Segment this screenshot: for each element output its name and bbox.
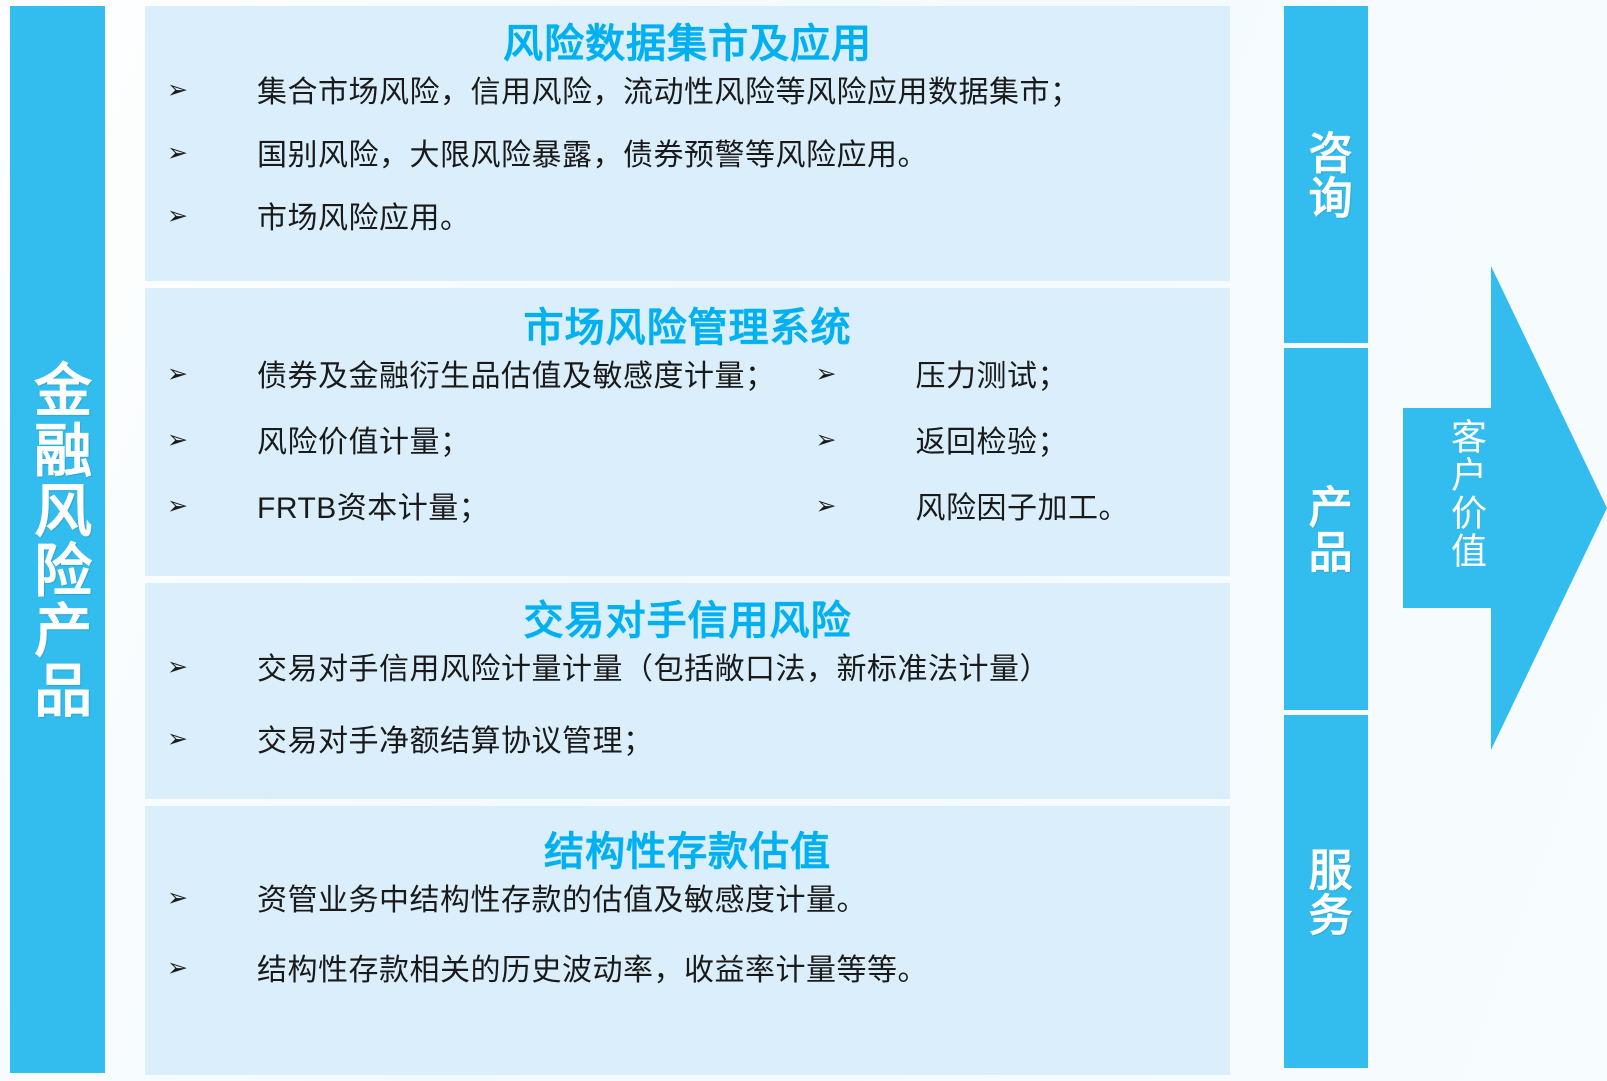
list-item-label: 返回检验； [840, 426, 1231, 460]
arrow-bullet-icon: ➢ [167, 884, 191, 913]
arrow-bullet-icon: ➢ [816, 492, 840, 521]
list-item: ➢ 交易对手信用风险计量计量（包括敞口法，新标准法计量） [145, 653, 1230, 725]
bullet-list: ➢ 集合市场风险，信用风险，流动性风险等风险应用数据集市； ➢ 国别风险，大限风… [145, 68, 1230, 265]
content-stack: 风险数据集市及应用 ➢ 集合市场风险，信用风险，流动性风险等风险应用数据集市； … [145, 6, 1230, 1075]
list-item-label: 交易对手信用风险计量计量（包括敞口法，新标准法计量） [191, 653, 1230, 687]
arrow-bullet-icon: ➢ [167, 653, 191, 682]
list-item: ➢ 资管业务中结构性存款的估值及敏感度计量。 [145, 884, 1230, 954]
stage-item-consulting: 咨询 [1284, 6, 1368, 343]
stage-item-label: 服务 [1301, 847, 1350, 937]
arrow-bullet-icon: ➢ [816, 360, 840, 389]
list-item: ➢ 市场风险应用。 [145, 202, 1230, 265]
list-item-label: 债券及金融衍生品估值及敏感度计量； [191, 360, 776, 394]
customer-value-arrow-label: 客户价值 [1421, 418, 1487, 570]
list-item: ➢ 集合市场风险，信用风险，流动性风险等风险应用数据集市； [145, 76, 1230, 139]
list-item: ➢ 压力测试； [776, 360, 1231, 426]
bullet-column-right: ➢ 压力测试； ➢ 返回检验； ➢ 风险因子加工。 [776, 360, 1231, 558]
arrow-bullet-icon: ➢ [816, 426, 840, 455]
list-item-label: 集合市场风险，信用风险，流动性风险等风险应用数据集市； [191, 76, 1230, 110]
bullet-list: ➢ 交易对手信用风险计量计量（包括敞口法，新标准法计量） ➢ 交易对手净额结算协… [145, 645, 1230, 797]
list-item: ➢ 交易对手净额结算协议管理； [145, 725, 1230, 797]
stage-item-product: 产品 [1284, 348, 1368, 710]
list-item: ➢ 风险价值计量； [145, 426, 776, 492]
arrow-bullet-icon: ➢ [167, 139, 191, 168]
list-item-label: FRTB资本计量； [191, 492, 776, 526]
stage-item-label: 咨询 [1301, 130, 1350, 220]
section-title: 结构性存款估值 [145, 806, 1230, 876]
customer-value-arrow: 客户价值 [1381, 266, 1607, 750]
list-item: ➢ 国别风险，大限风险暴露，债券预警等风险应用。 [145, 139, 1230, 202]
list-item: ➢ 债券及金融衍生品估值及敏感度计量； [145, 360, 776, 426]
section-market-risk-system: 市场风险管理系统 ➢ 债券及金融衍生品估值及敏感度计量； ➢ 风险价值计量； ➢… [145, 288, 1230, 576]
left-title-bar: 金融风险产品 [10, 6, 105, 1073]
section-title: 风险数据集市及应用 [145, 6, 1230, 68]
stage-item-service: 服务 [1284, 715, 1368, 1068]
section-structured-deposit-valuation: 结构性存款估值 ➢ 资管业务中结构性存款的估值及敏感度计量。 ➢ 结构性存款相关… [145, 806, 1230, 1075]
list-item-label: 结构性存款相关的历史波动率，收益率计量等等。 [191, 954, 1230, 988]
list-item: ➢ FRTB资本计量； [145, 492, 776, 558]
list-item-label: 市场风险应用。 [191, 202, 1230, 236]
arrow-bullet-icon: ➢ [167, 954, 191, 983]
stage-item-label: 产品 [1301, 484, 1350, 574]
list-item-label: 国别风险，大限风险暴露，债券预警等风险应用。 [191, 139, 1230, 173]
list-item-label: 风险价值计量； [191, 426, 776, 460]
section-counterparty-credit-risk: 交易对手信用风险 ➢ 交易对手信用风险计量计量（包括敞口法，新标准法计量） ➢ … [145, 583, 1230, 799]
list-item: ➢ 结构性存款相关的历史波动率，收益率计量等等。 [145, 954, 1230, 1024]
left-title-bar-label: 金融风险产品 [24, 360, 91, 720]
stage-column: 咨询 产品 服务 [1284, 6, 1368, 1073]
slide-canvas: 金融风险产品 风险数据集市及应用 ➢ 集合市场风险，信用风险，流动性风险等风险应… [0, 0, 1607, 1081]
arrow-bullet-icon: ➢ [167, 426, 191, 455]
arrow-bullet-icon: ➢ [167, 202, 191, 231]
list-item: ➢ 风险因子加工。 [776, 492, 1231, 558]
list-item-label: 风险因子加工。 [840, 492, 1231, 526]
right-arrow-icon [1381, 266, 1607, 750]
bullet-list: ➢ 债券及金融衍生品估值及敏感度计量； ➢ 风险价值计量； ➢ FRTB资本计量… [145, 352, 1230, 558]
section-risk-data-mart: 风险数据集市及应用 ➢ 集合市场风险，信用风险，流动性风险等风险应用数据集市； … [145, 6, 1230, 281]
arrow-bullet-icon: ➢ [167, 76, 191, 105]
arrow-bullet-icon: ➢ [167, 360, 191, 389]
list-item-label: 交易对手净额结算协议管理； [191, 725, 1230, 759]
list-item-label: 资管业务中结构性存款的估值及敏感度计量。 [191, 884, 1230, 918]
list-item: ➢ 返回检验； [776, 426, 1231, 492]
section-title: 交易对手信用风险 [145, 583, 1230, 645]
bullet-list: ➢ 资管业务中结构性存款的估值及敏感度计量。 ➢ 结构性存款相关的历史波动率，收… [145, 876, 1230, 1024]
bullet-column-left: ➢ 债券及金融衍生品估值及敏感度计量； ➢ 风险价值计量； ➢ FRTB资本计量… [145, 360, 776, 558]
arrow-bullet-icon: ➢ [167, 725, 191, 754]
arrow-bullet-icon: ➢ [167, 492, 191, 521]
list-item-label: 压力测试； [840, 360, 1231, 394]
section-title: 市场风险管理系统 [145, 288, 1230, 352]
